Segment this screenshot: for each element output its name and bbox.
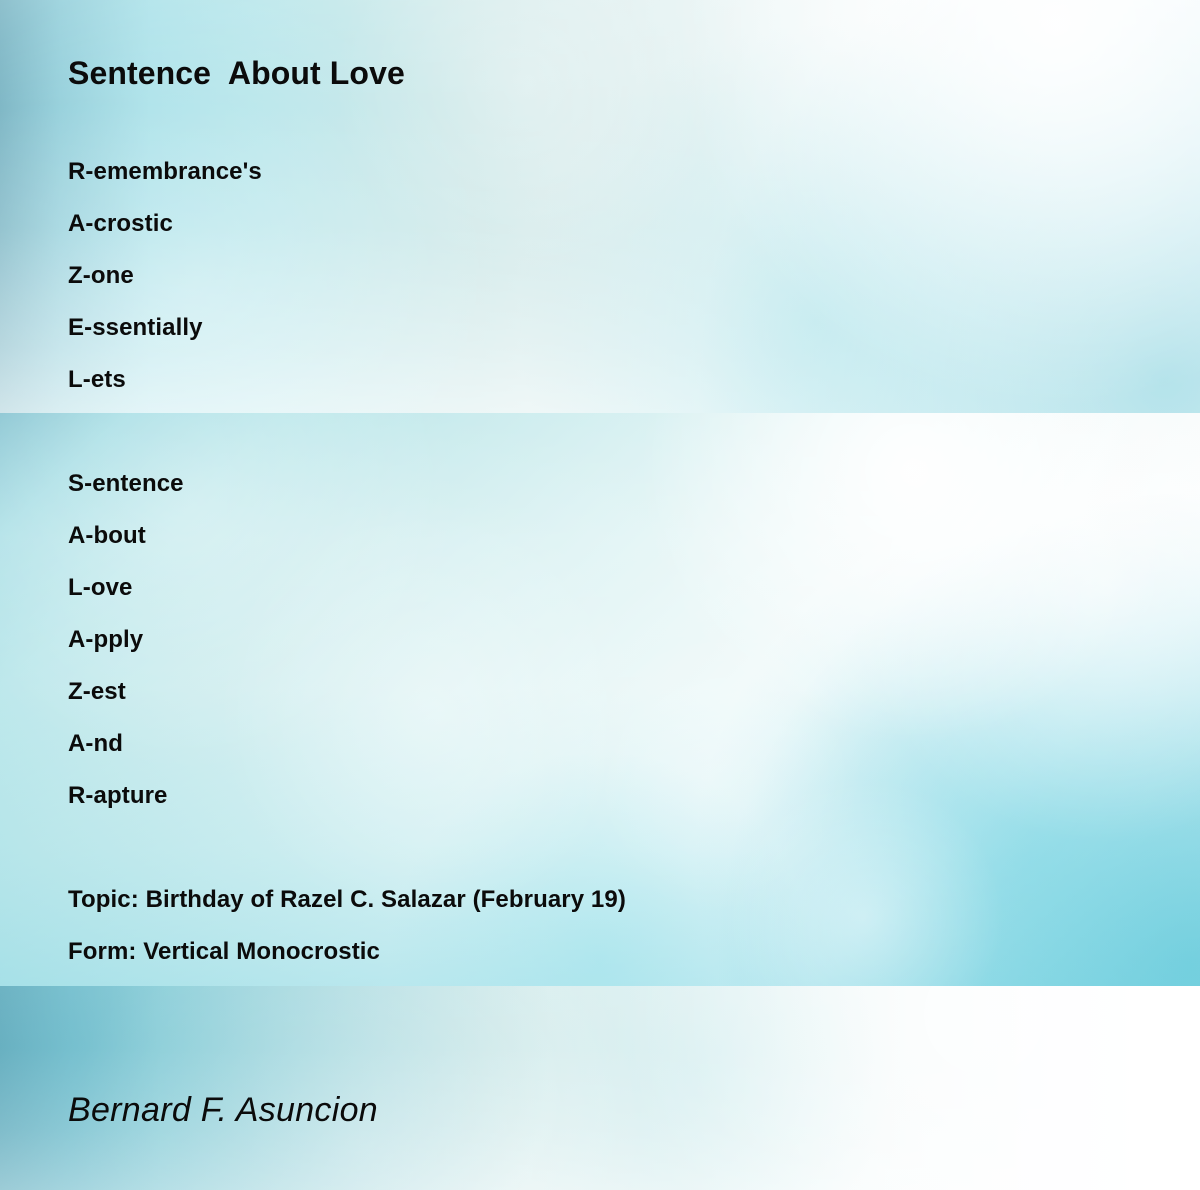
poem-line-z-est: Z-est (68, 677, 126, 707)
poem-line-a-bout: A-bout (68, 521, 146, 551)
poem-form: Form: Vertical Monocrostic (68, 937, 380, 967)
poem-line-e-ssentially: E-ssentially (68, 313, 203, 343)
poem-text-layer: Sentence About Love R-emembrance's A-cro… (0, 0, 1200, 1190)
poem-topic: Topic: Birthday of Razel C. Salazar (Feb… (68, 885, 626, 915)
poem-line-l-ets: L-ets (68, 365, 126, 395)
author-signature: Bernard F. Asuncion (68, 1089, 378, 1131)
poem-line-z-one: Z-one (68, 261, 134, 291)
poem-image: Sentence About Love R-emembrance's A-cro… (0, 0, 1200, 1190)
poem-line-a-nd: A-nd (68, 729, 123, 759)
poem-line-a-crostic: A-crostic (68, 209, 173, 239)
poem-line-r-apture: R-apture (68, 781, 167, 811)
poem-line-a-pply: A-pply (68, 625, 143, 655)
poem-line-r-emembrances: R-emembrance's (68, 157, 262, 187)
page-title: Sentence About Love (68, 54, 405, 92)
poem-line-s-entence: S-entence (68, 469, 184, 499)
poem-line-l-ove: L-ove (68, 573, 133, 603)
